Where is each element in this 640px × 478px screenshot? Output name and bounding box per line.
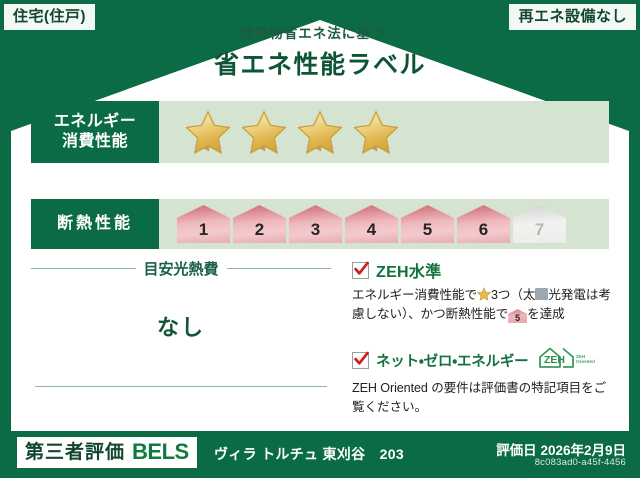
zeh-level-text-2: 3つ（太 [491, 288, 535, 302]
evaluation-id: 8c083ad0-a45f-4456 [535, 457, 626, 468]
check-icon [352, 352, 369, 369]
insulation-grade-1: 1 [177, 205, 230, 243]
utility-cost-block: 目安光熱費 なし [31, 258, 331, 342]
star-icon [185, 109, 231, 155]
label-title: 建築物省エネ法に基づく 省エネ性能ラベル [0, 22, 640, 81]
energy-performance-row: エネルギー 消費性能 [31, 101, 609, 163]
utility-cost-heading: 目安光熱費 [31, 258, 331, 279]
zeh-column: ZEH水準 エネルギー消費性能で3つ（太光発電は考慮しない）、かつ断熱性能で5を… [352, 258, 614, 418]
evaluation-date: 評価日 2026年2月9日 [496, 439, 626, 459]
insulation-grade-5: 5 [401, 205, 454, 243]
energy-label-line2: 消費性能 [62, 132, 128, 152]
energy-star-rating [159, 101, 609, 163]
zeh-oriented-logo-icon: ZEH ZEH Oriented [537, 346, 595, 375]
insulation-grade-7: 7 [513, 205, 566, 243]
utility-cost-underline [35, 386, 327, 387]
zeh-net-heading: ネット・ゼロ・エネルギー ZEH ZEH Oriented [352, 346, 614, 375]
insulation-grade-6: 6 [457, 205, 510, 243]
svg-text:Oriented: Oriented [576, 359, 595, 364]
star-icon [477, 287, 491, 301]
utility-cost-value: なし [31, 310, 331, 342]
zeh-level-block: ZEH水準 エネルギー消費性能で3つ（太光発電は考慮しない）、かつ断熱性能で5を… [352, 258, 614, 324]
insulation-grade-4: 4 [345, 205, 398, 243]
zeh-level-text-4: を達成 [527, 307, 564, 321]
zeh-level-description: エネルギー消費性能で3つ（太光発電は考慮しない）、かつ断熱性能で5を達成 [352, 286, 614, 324]
utility-cost-heading-text: 目安光熱費 [144, 258, 219, 279]
bels-jp-text: 第三者評価 [25, 443, 125, 462]
star-icon [297, 109, 343, 155]
rule-right [227, 268, 332, 269]
star-icon [241, 109, 287, 155]
zeh-net-block: ネット・ゼロ・エネルギー ZEH ZEH Oriented ZEH Orient… [352, 346, 614, 417]
energy-performance-label: エネルギー 消費性能 [31, 101, 159, 163]
redaction-block [535, 288, 548, 300]
insulation-grade-3: 3 [289, 205, 342, 243]
bels-badge: 第三者評価 BELS [17, 437, 197, 468]
bels-en-text: BELS [132, 441, 189, 463]
zeh-net-description: ZEH Oriented の要件は評価書の特記項目をご覧ください。 [352, 379, 614, 417]
label-footer: 第三者評価 BELS ヴィラ トルチュ 東刈谷 203 評価日 2026年2月9… [0, 431, 640, 478]
energy-label-line1: エネルギー [54, 112, 137, 132]
svg-text:ZEH: ZEH [544, 354, 565, 366]
insulation-performance-row: 断熱性能 1234567 [31, 199, 609, 249]
rule-left [31, 268, 136, 269]
title-heading: 省エネ性能ラベル [0, 45, 640, 81]
zeh-level-text-1: エネルギー消費性能で [352, 288, 477, 302]
title-subheading: 建築物省エネ法に基づく [0, 22, 640, 42]
zeh-level-title: ZEH水準 [376, 258, 442, 282]
energy-label-root: 住宅(住戸) 再エネ設備なし 建築物省エネ法に基づく 省エネ性能ラベル エネルギ… [0, 0, 640, 478]
zeh-level-heading: ZEH水準 [352, 258, 614, 282]
zeh-net-title: ネット・ゼロ・エネルギー [376, 350, 528, 371]
star-icon [353, 109, 399, 155]
insulation-grade-badge-inline: 5 [508, 309, 527, 323]
insulation-grade-2: 2 [233, 205, 286, 243]
insulation-grade-scale: 1234567 [159, 199, 609, 249]
insulation-performance-label: 断熱性能 [31, 199, 159, 249]
check-icon [352, 262, 369, 279]
property-name: ヴィラ トルチュ 東刈谷 203 [214, 444, 404, 464]
